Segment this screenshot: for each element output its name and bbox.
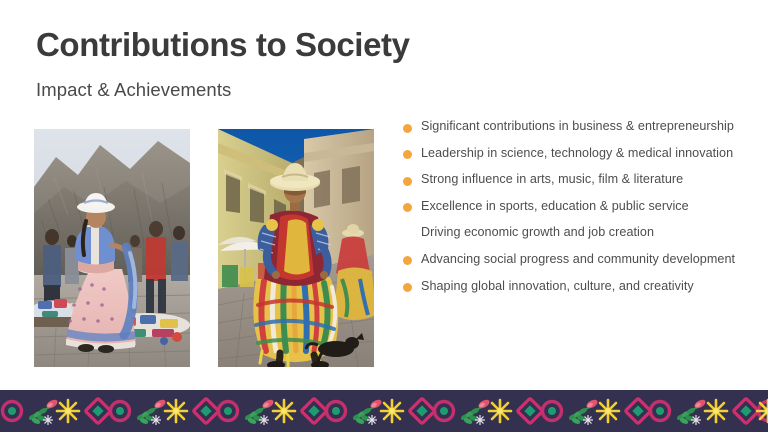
andean-market-woman-photo bbox=[34, 129, 190, 367]
page-subtitle: Impact & Achievements bbox=[36, 79, 231, 101]
list-item: Shaping global innovation, culture, and … bbox=[403, 279, 738, 295]
page-title: Contributions to Society bbox=[36, 27, 410, 64]
bullet-dot-icon bbox=[403, 124, 412, 133]
bullet-dot-icon bbox=[403, 283, 412, 292]
list-item-label: Shaping global innovation, culture, and … bbox=[421, 279, 738, 295]
bullet-dot-icon bbox=[403, 177, 412, 186]
decorative-embroidery-band bbox=[0, 390, 768, 432]
achievements-list: Significant contributions in business & … bbox=[403, 119, 738, 294]
list-item-label: Driving economic growth and job creation bbox=[421, 225, 738, 241]
slide-canvas: Contributions to Society Impact & Achiev… bbox=[0, 0, 768, 432]
bullet-dot-icon bbox=[403, 203, 412, 212]
list-item: Advancing social progress and community … bbox=[403, 252, 738, 268]
list-item: Significant contributions in business & … bbox=[403, 119, 738, 135]
bullet-dot-icon-absent bbox=[403, 230, 412, 239]
festival-dancer-photo bbox=[218, 129, 374, 367]
list-item: Driving economic growth and job creation bbox=[403, 225, 738, 241]
bullet-dot-icon bbox=[403, 256, 412, 265]
list-item-label: Significant contributions in business & … bbox=[421, 119, 738, 135]
list-item-label: Excellence in sports, education & public… bbox=[421, 199, 738, 215]
list-item-label: Advancing social progress and community … bbox=[421, 252, 738, 268]
list-item: Strong influence in arts, music, film & … bbox=[403, 172, 738, 188]
bullet-dot-icon bbox=[403, 150, 412, 159]
list-item: Leadership in science, technology & medi… bbox=[403, 146, 738, 162]
list-item-label: Strong influence in arts, music, film & … bbox=[421, 172, 738, 188]
list-item: Excellence in sports, education & public… bbox=[403, 199, 738, 215]
list-item-label: Leadership in science, technology & medi… bbox=[421, 146, 738, 162]
